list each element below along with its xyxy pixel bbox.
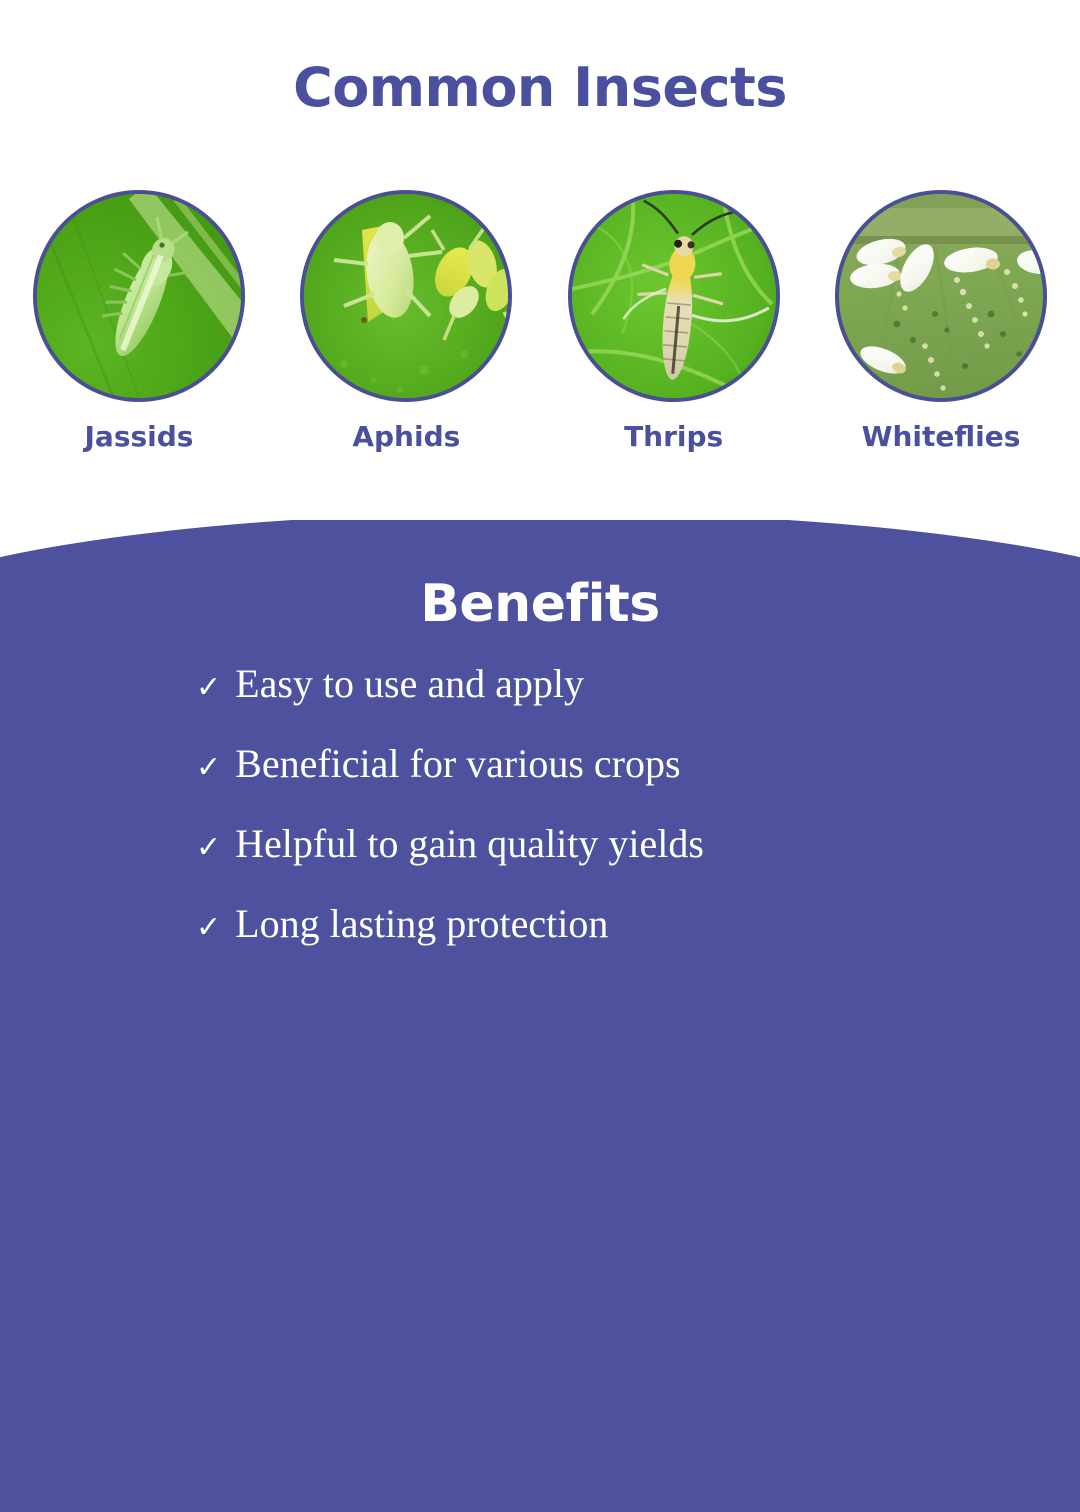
insect-card-aphids[interactable]: Aphids xyxy=(300,190,512,453)
benefit-text: Long lasting protection xyxy=(235,902,608,946)
check-icon: ✓ xyxy=(196,673,221,703)
benefit-list-item: ✓ Long lasting protection xyxy=(196,902,1080,946)
benefits-section: Benefits ✓ Easy to use and apply ✓ Benef… xyxy=(0,512,1080,1080)
insect-label: Aphids xyxy=(352,420,460,453)
page-title: Common Insects xyxy=(0,0,1080,119)
insect-gallery: Jassids xyxy=(0,190,1080,453)
insect-card-thrips[interactable]: Thrips xyxy=(568,190,780,453)
check-icon: ✓ xyxy=(196,913,221,943)
benefits-title: Benefits xyxy=(0,512,1080,634)
insect-label: Whiteflies xyxy=(862,420,1021,453)
insect-card-whiteflies[interactable]: Whiteflies xyxy=(835,190,1047,453)
benefit-list-item: ✓ Beneficial for various crops xyxy=(196,742,1080,786)
insect-photo-jassids xyxy=(33,190,245,402)
benefit-list-item: ✓ Helpful to gain quality yields xyxy=(196,822,1080,866)
insect-card-jassids[interactable]: Jassids xyxy=(33,190,245,453)
benefit-text: Helpful to gain quality yields xyxy=(235,822,704,866)
benefits-list: ✓ Easy to use and apply ✓ Beneficial for… xyxy=(0,662,1080,946)
insect-photo-thrips xyxy=(568,190,780,402)
insect-photo-aphids xyxy=(300,190,512,402)
check-icon: ✓ xyxy=(196,833,221,863)
insect-label: Thrips xyxy=(624,420,723,453)
insect-label: Jassids xyxy=(85,420,194,453)
insects-section: Common Insects xyxy=(0,0,1080,520)
insect-photo-whiteflies xyxy=(835,190,1047,402)
benefit-text: Easy to use and apply xyxy=(235,662,584,706)
benefit-text: Beneficial for various crops xyxy=(235,742,680,786)
benefit-list-item: ✓ Easy to use and apply xyxy=(196,662,1080,706)
check-icon: ✓ xyxy=(196,753,221,783)
